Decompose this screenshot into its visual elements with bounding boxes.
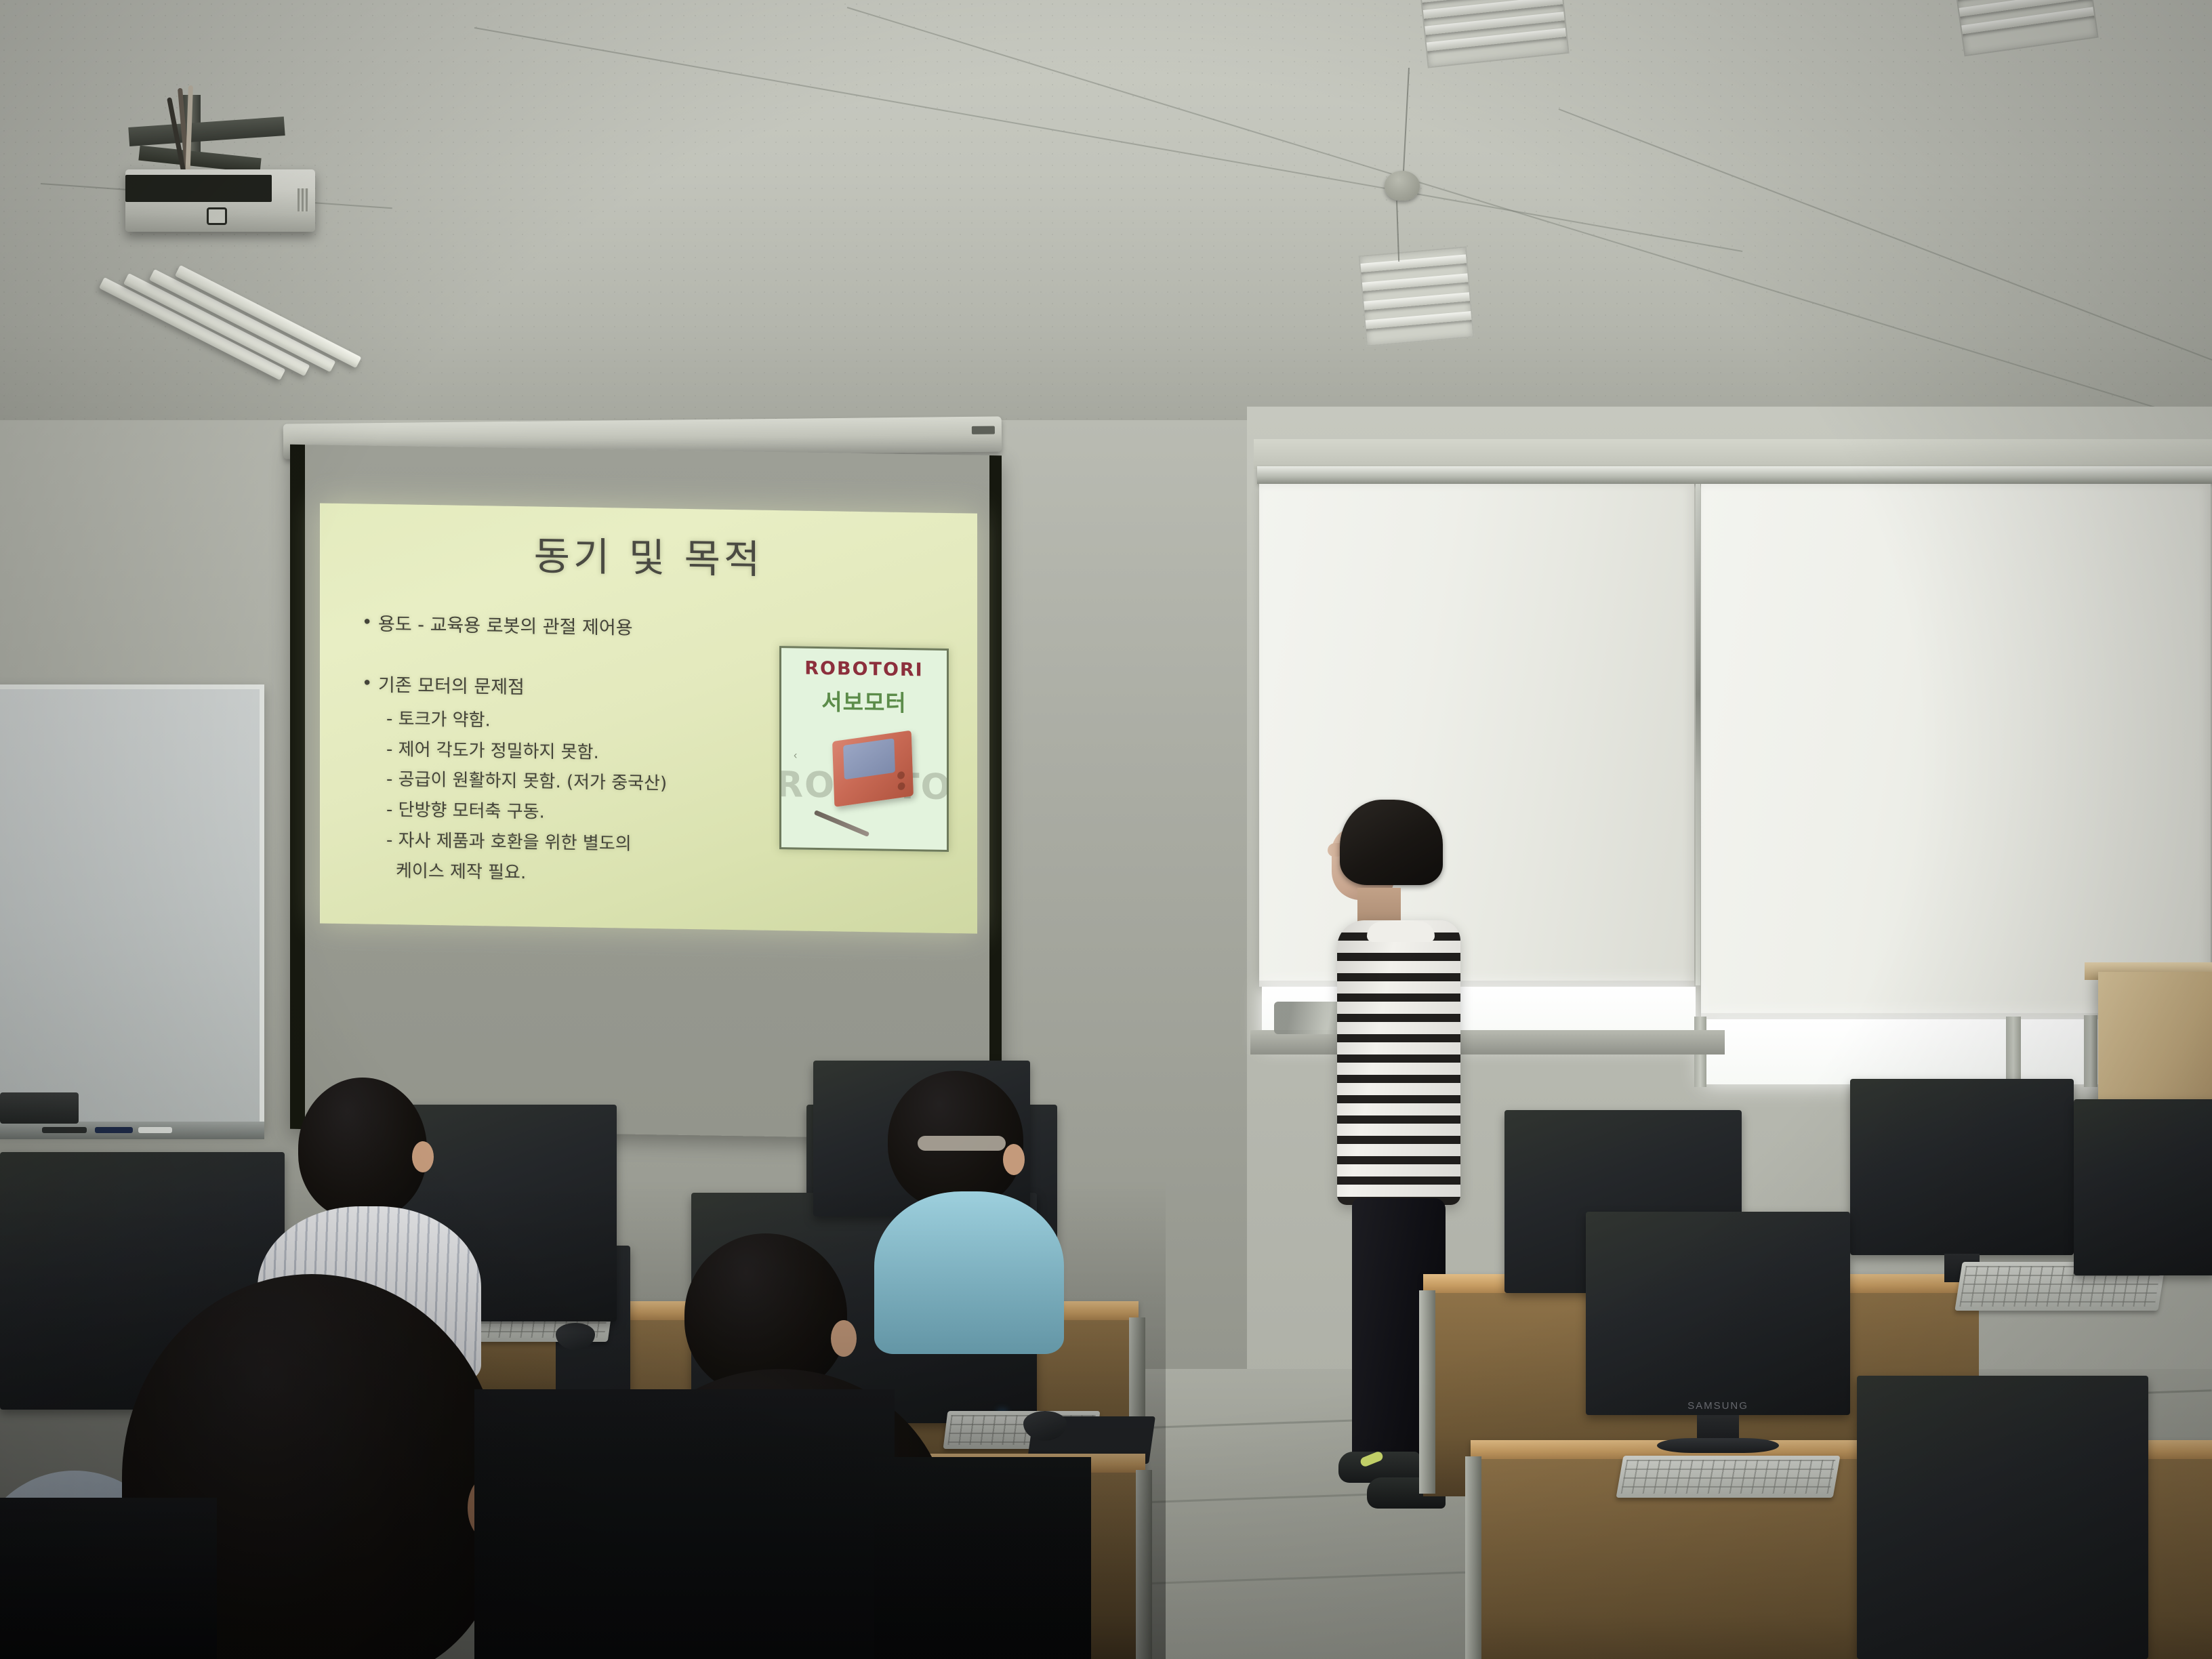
- servo-motor-graphic: [832, 731, 914, 807]
- whiteboard: [0, 684, 264, 1132]
- slide-product-image: ROBOTORI 서보모터 ROBOTORI ‹: [779, 646, 949, 852]
- monitor-samsung[interactable]: SAMSUNG: [1586, 1212, 1850, 1415]
- robotori-caption-text: 서보모터: [781, 683, 947, 718]
- desk-leg: [1136, 1470, 1152, 1659]
- slide-sub-bullet: - 토크가 약함.: [356, 708, 804, 737]
- monitor-screen: [1850, 1079, 2074, 1255]
- servo-motor-top: [843, 738, 895, 779]
- projection-screen: 동기 및 목적 용도 - 교육용 로봇의 관절 제어용 기존 모터의 문제점 -…: [283, 420, 1015, 1145]
- monitor-screen: [1857, 1376, 2148, 1659]
- student-ear: [412, 1141, 434, 1172]
- projector-mount-arm: [128, 117, 285, 146]
- servo-motor-shaft: [814, 810, 869, 837]
- slide-sub-bullet: - 단방향 모터축 구동.: [356, 799, 804, 829]
- presenter-striped-shirt: [1337, 920, 1460, 1205]
- smoke-detector-icon: [1385, 171, 1420, 201]
- foreground-monitor[interactable]: [0, 1498, 217, 1659]
- hairband: [918, 1136, 1006, 1151]
- servo-mount-hole: [897, 771, 905, 780]
- roller-blind-right[interactable]: [1701, 484, 2211, 1019]
- marker[interactable]: [42, 1127, 87, 1133]
- slide-sub-bullet: - 공급이 원활하지 못함. (저가 중국산): [356, 769, 804, 798]
- presenter-collar: [1367, 922, 1435, 942]
- projected-slide: 동기 및 목적 용도 - 교육용 로봇의 관절 제어용 기존 모터의 문제점 -…: [320, 503, 977, 933]
- ceiling-projector: [102, 95, 386, 278]
- blind-rail: [1257, 466, 2212, 484]
- slide-sub-bullet: - 자사 제품과 호환을 위한 별도의: [356, 829, 804, 859]
- blind-valance: [1254, 439, 2212, 469]
- desk-leg: [1465, 1456, 1481, 1659]
- student-ear: [1003, 1144, 1025, 1175]
- presenter-hair: [1340, 800, 1443, 885]
- slide-sub-bullet-continued: 케이스 제작 필요.: [356, 859, 804, 889]
- student-ear: [831, 1320, 857, 1357]
- keyboard[interactable]: [1616, 1456, 1841, 1498]
- monitor-screen: [1586, 1212, 1850, 1415]
- shirt-shading: [1337, 920, 1460, 1205]
- foreground-monitor[interactable]: [474, 1389, 895, 1659]
- blind-gap: [1696, 484, 1700, 985]
- screen-roller-cap: [972, 426, 995, 434]
- projector-lens-icon: [207, 207, 227, 225]
- projector-vent: [298, 188, 308, 211]
- projector-body: [125, 169, 315, 232]
- foreground-monitor[interactable]: [874, 1457, 1091, 1659]
- monitor-brand-label: SAMSUNG: [1586, 1400, 1850, 1412]
- ceiling-vent: [1358, 246, 1474, 346]
- classroom-scene: 동기 및 목적 용도 - 교육용 로봇의 관절 제어용 기존 모터의 문제점 -…: [0, 0, 2212, 1659]
- whiteboard-eraser[interactable]: [0, 1092, 79, 1124]
- monitor[interactable]: [1857, 1376, 2148, 1659]
- slide-bullet-list: 용도 - 교육용 로봇의 관절 제어용 기존 모터의 문제점 - 토크가 약함.…: [356, 612, 804, 897]
- fluorescent-ceiling-light: [102, 271, 332, 393]
- slide-sub-bullet: - 제어 각도가 정밀하지 못함.: [356, 738, 804, 768]
- marker[interactable]: [95, 1127, 133, 1133]
- window-mullion: [2084, 1015, 2097, 1087]
- student-head: [298, 1078, 427, 1220]
- monitor-stand-base: [1657, 1438, 1779, 1453]
- slide-title: 동기 및 목적: [320, 520, 977, 588]
- monitor[interactable]: [2074, 1099, 2212, 1275]
- caret-icon: ‹: [794, 750, 797, 762]
- monitor[interactable]: [1850, 1079, 2074, 1255]
- marker[interactable]: [138, 1127, 172, 1133]
- robotori-brand-text: ROBOTORI: [781, 657, 947, 681]
- desk-leg: [1419, 1290, 1435, 1494]
- projector-lens-strip: [125, 175, 272, 202]
- slide-bullet: 용도 - 교육용 로봇의 관절 제어용: [356, 612, 804, 644]
- screen-surface: 동기 및 목적 용도 - 교육용 로봇의 관절 제어용 기존 모터의 문제점 -…: [290, 445, 1002, 1140]
- window-mullion: [2006, 1017, 2021, 1087]
- monitor-screen: [2074, 1099, 2212, 1275]
- servo-mount-hole: [897, 782, 905, 791]
